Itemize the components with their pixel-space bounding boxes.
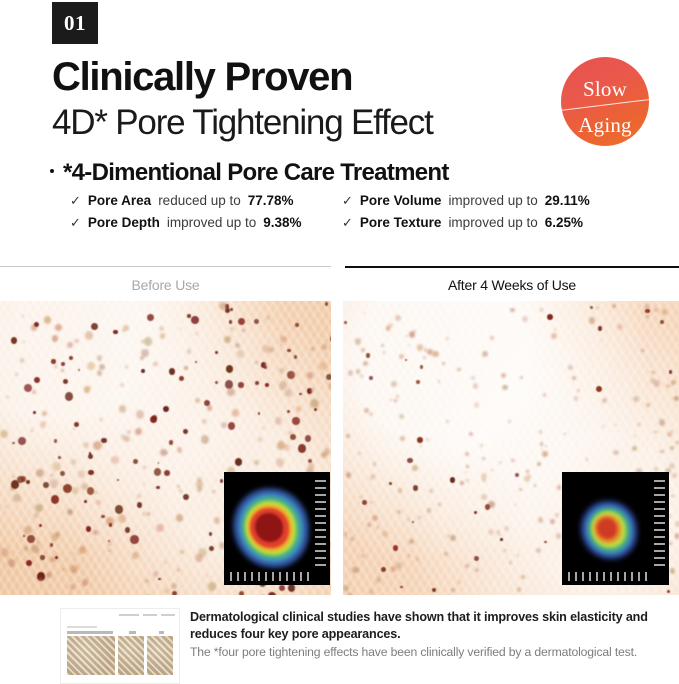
pore-spot — [34, 377, 40, 384]
pore-spot — [85, 331, 93, 339]
pore-spot — [348, 370, 354, 376]
pore-spot — [109, 523, 113, 527]
pore-spot — [670, 446, 674, 450]
pore-spot — [287, 410, 290, 413]
pore-spot — [137, 502, 143, 508]
pore-spot — [450, 535, 456, 541]
pore-spot — [667, 432, 672, 437]
pore-spot — [554, 328, 556, 330]
metric-label: Pore Depth — [88, 215, 160, 230]
pore-spot — [184, 366, 188, 370]
pore-spot — [364, 408, 369, 413]
pore-spot — [613, 450, 618, 455]
pore-spot — [572, 376, 575, 380]
pore-spot — [34, 575, 36, 577]
pore-spot — [143, 466, 146, 469]
pore-spot — [262, 427, 265, 430]
pore-spot — [438, 503, 441, 506]
pore-spot — [407, 458, 412, 464]
pore-spot — [284, 444, 290, 450]
pore-spot — [280, 343, 283, 347]
pore-spot — [409, 344, 411, 346]
pore-spot — [264, 363, 268, 367]
pore-spot — [39, 578, 43, 582]
pore-spot — [18, 437, 26, 445]
pore-spot — [159, 326, 164, 331]
pore-spot — [442, 362, 445, 365]
pore-spot — [228, 422, 236, 430]
pore-spot — [364, 312, 366, 314]
pore-spot — [294, 355, 298, 359]
pore-spot — [538, 517, 543, 523]
pore-spot — [556, 533, 562, 539]
pore-spot — [21, 476, 27, 482]
pore-spot — [491, 469, 493, 471]
pore-spot — [238, 318, 245, 325]
pore-spot — [235, 458, 242, 466]
pore-spot — [206, 575, 208, 577]
pore-spot — [383, 351, 386, 354]
pore-spot — [544, 541, 547, 544]
pore-spot — [602, 398, 607, 403]
pore-spot — [154, 468, 161, 476]
pore-spot — [382, 531, 388, 537]
seal-word-slow: Slow — [561, 79, 649, 100]
pore-spot — [172, 591, 177, 595]
pore-spot — [97, 370, 103, 376]
pore-spot — [590, 306, 593, 309]
pore-spot — [127, 430, 132, 435]
pore-spot — [432, 351, 438, 358]
pore-spot — [522, 316, 528, 323]
page-title: Clinically Proven — [52, 57, 352, 97]
pore-spot — [381, 344, 384, 347]
pore-spot — [156, 524, 164, 532]
section-number: 01 — [64, 11, 86, 36]
pore-spot — [133, 459, 138, 464]
pore-spot — [280, 336, 286, 343]
pore-spot — [230, 327, 234, 332]
pore-spot — [482, 351, 488, 357]
pore-spot — [432, 588, 436, 593]
pore-spot — [388, 323, 393, 328]
pore-spot — [93, 530, 98, 536]
pore-spot — [475, 568, 479, 572]
pore-spot — [413, 330, 415, 332]
pore-spot — [465, 564, 469, 568]
pore-spot — [654, 308, 658, 312]
pore-spot — [195, 398, 200, 403]
pore-spot — [458, 580, 461, 584]
pore-spot — [602, 425, 605, 428]
pore-spot — [123, 325, 129, 332]
pore-spot — [504, 549, 506, 551]
pore-spot — [254, 460, 259, 465]
pore-spot — [11, 480, 19, 489]
pore-depth-heatmap-after — [562, 472, 669, 585]
pore-spot — [369, 477, 373, 481]
metric-action: improved up to — [448, 215, 537, 230]
pore-spot — [308, 463, 313, 468]
pore-spot — [142, 512, 146, 516]
pore-spot — [153, 362, 157, 367]
pore-spot — [551, 333, 557, 339]
pore-spot — [360, 374, 364, 378]
pore-spot — [363, 361, 368, 366]
pore-spot — [207, 405, 212, 410]
pore-spot — [119, 405, 126, 413]
pore-spot — [344, 321, 346, 324]
pore-spot — [13, 494, 21, 503]
pore-spot — [62, 568, 65, 571]
pore-spot — [111, 456, 118, 464]
pore-spot — [488, 529, 494, 535]
pore-spot — [395, 315, 401, 321]
pore-spot — [220, 479, 223, 482]
before-divider-rule — [0, 266, 331, 267]
pore-spot — [147, 314, 154, 321]
pore-spot — [12, 442, 15, 445]
pore-spot — [418, 516, 421, 519]
pore-spot — [352, 567, 358, 574]
pore-spot — [144, 337, 152, 346]
pore-spot — [671, 495, 673, 498]
pore-spot — [409, 539, 414, 544]
pore-spot — [136, 410, 144, 419]
thumbnail-micrograph-row — [67, 636, 173, 675]
pore-spot — [242, 329, 245, 332]
pore-spot — [446, 337, 449, 340]
pore-spot — [191, 316, 198, 324]
pore-spot — [509, 561, 512, 564]
pore-spot — [450, 477, 455, 483]
heatmap-scale-ticks-horizontal — [568, 572, 651, 581]
pore-spot — [296, 406, 302, 412]
pore-spot — [389, 482, 391, 485]
check-icon: ✓ — [70, 216, 81, 229]
pore-spot — [31, 429, 34, 432]
pore-spot — [169, 440, 174, 445]
pore-spot — [15, 373, 17, 375]
pore-spot — [426, 438, 429, 441]
check-icon: ✓ — [342, 194, 353, 207]
pore-spot — [510, 308, 514, 313]
pore-spot — [255, 361, 258, 364]
pore-spot — [215, 351, 218, 354]
pore-spot — [70, 565, 77, 573]
pore-spot — [50, 474, 53, 477]
pore-spot — [325, 302, 329, 306]
pore-spot — [91, 323, 98, 330]
pore-spot — [101, 438, 106, 444]
pore-spot — [637, 423, 640, 426]
check-icon: ✓ — [342, 216, 353, 229]
pore-spot — [568, 365, 573, 370]
pore-spot — [84, 500, 87, 503]
after-label: After 4 Weeks of Use — [345, 277, 679, 293]
pore-spot — [156, 486, 159, 489]
pore-spot — [612, 304, 616, 308]
pore-spot — [24, 384, 32, 392]
pore-spot — [201, 435, 210, 444]
pore-spot — [654, 467, 658, 471]
pore-spot — [60, 471, 65, 476]
pore-spot — [537, 462, 542, 467]
pore-spot — [180, 328, 182, 330]
benefit-checklist: ✓ Pore Area reduced up to 77.78% ✓ Pore … — [70, 193, 650, 230]
pore-spot — [344, 532, 347, 536]
pore-spot — [598, 326, 602, 331]
pore-spot — [101, 515, 104, 519]
pore-spot — [480, 444, 483, 447]
pore-spot — [32, 390, 36, 394]
metric-value: 6.25% — [545, 215, 583, 230]
pore-spot — [45, 594, 49, 595]
pore-spot — [654, 431, 657, 434]
pore-spot — [287, 349, 290, 352]
pore-spot — [355, 338, 361, 344]
pore-spot — [69, 356, 73, 360]
pore-spot — [367, 523, 371, 528]
pore-depth-heatmap-before — [224, 472, 330, 585]
pore-spot — [517, 554, 519, 556]
pore-spot — [396, 395, 399, 398]
pore-spot — [396, 562, 402, 568]
pore-spot — [12, 475, 14, 477]
pore-spot — [669, 370, 672, 374]
pore-spot — [369, 589, 374, 594]
pore-spot — [361, 554, 364, 557]
pore-spot — [408, 554, 411, 557]
pore-spot — [381, 567, 386, 572]
pore-spot — [390, 399, 393, 402]
pore-spot — [358, 452, 361, 455]
pore-spot — [550, 519, 555, 524]
pore-spot — [410, 331, 416, 337]
pore-spot — [596, 307, 598, 309]
pore-spot — [466, 479, 469, 482]
pore-spot — [391, 566, 396, 571]
pore-spot — [279, 381, 287, 390]
pore-spot — [187, 349, 191, 354]
pore-spot — [276, 458, 284, 467]
pore-spot — [490, 336, 493, 339]
pore-spot — [113, 330, 117, 334]
pore-spot — [141, 369, 145, 373]
pore-spot — [202, 419, 207, 424]
pore-spot — [44, 316, 51, 324]
micrograph-cell — [147, 636, 173, 675]
pore-spot — [219, 302, 226, 310]
pore-spot — [328, 382, 331, 390]
pore-spot — [474, 556, 479, 561]
pore-spot — [540, 442, 544, 446]
pore-spot — [27, 535, 35, 543]
pore-spot — [326, 374, 331, 380]
pore-spot — [164, 588, 169, 594]
pore-spot — [164, 561, 167, 564]
pore-spot — [508, 420, 511, 423]
pore-spot — [545, 445, 547, 447]
pore-spot — [372, 515, 378, 521]
pore-spot — [400, 436, 404, 441]
pore-spot — [293, 373, 295, 375]
pore-spot — [187, 314, 190, 317]
pore-spot — [536, 548, 541, 553]
pore-spot — [466, 465, 469, 468]
pore-spot — [666, 384, 670, 389]
pore-spot — [0, 548, 8, 557]
pore-spot — [671, 380, 676, 385]
pore-spot — [238, 382, 243, 387]
pore-spot — [295, 323, 298, 326]
pore-spot — [58, 456, 61, 459]
pore-spot — [158, 462, 160, 464]
pore-spot — [209, 532, 213, 536]
pore-spot — [176, 514, 184, 522]
pore-spot — [183, 429, 188, 434]
pore-spot — [61, 362, 65, 366]
pore-spot — [400, 586, 403, 589]
footer-title: Dermatological clinical studies have sho… — [190, 609, 650, 642]
thumbnail-header-lines — [67, 614, 173, 624]
pore-spot — [314, 408, 317, 411]
pore-spot — [369, 376, 373, 380]
pore-spot — [224, 336, 231, 343]
metric-action: reduced up to — [158, 193, 241, 208]
pore-spot — [644, 304, 650, 310]
pore-spot — [208, 582, 216, 591]
pore-spot — [197, 486, 203, 492]
pore-spot — [311, 347, 314, 350]
pore-spot — [67, 342, 73, 348]
pore-spot — [451, 588, 455, 592]
pore-spot — [179, 376, 184, 381]
pore-spot — [416, 380, 420, 384]
pore-spot — [26, 560, 32, 566]
pore-spot — [596, 386, 602, 392]
pore-spot — [73, 553, 75, 555]
pore-spot — [373, 462, 376, 466]
pore-spot — [163, 406, 169, 412]
pore-spot — [362, 500, 367, 505]
pore-spot — [319, 362, 326, 369]
micrograph-cell — [67, 636, 115, 675]
checklist-item-pore-depth: ✓ Pore Depth improved up to 9.38% — [70, 215, 342, 230]
pore-spot — [662, 309, 667, 314]
pore-spot — [204, 400, 210, 406]
pore-spot — [577, 389, 579, 391]
pore-spot — [78, 369, 80, 371]
pore-spot — [82, 579, 88, 586]
pore-spot — [288, 584, 296, 592]
bullet-dot-icon — [50, 169, 54, 173]
pore-spot — [423, 356, 426, 359]
pore-spot — [366, 353, 370, 358]
pore-spot — [465, 471, 467, 473]
pore-spot — [420, 445, 422, 447]
pore-spot — [88, 470, 93, 476]
pore-spot — [120, 383, 124, 387]
pore-spot — [417, 344, 423, 350]
pore-spot — [420, 365, 423, 369]
pore-spot — [292, 417, 299, 424]
pore-spot — [275, 417, 282, 424]
pore-spot — [86, 526, 91, 531]
pore-spot — [67, 509, 73, 515]
pore-spot — [675, 521, 679, 527]
pore-spot — [183, 494, 189, 500]
pore-spot — [391, 381, 397, 387]
pore-spot — [56, 553, 58, 555]
pore-spot — [307, 372, 313, 378]
after-divider-rule — [345, 266, 679, 268]
pore-spot — [542, 451, 548, 458]
pore-spot — [394, 399, 397, 402]
metric-action: improved up to — [167, 215, 256, 230]
section-number-badge: 01 — [52, 2, 98, 44]
metric-value: 29.11% — [545, 193, 590, 208]
pore-spot — [474, 402, 480, 408]
pore-spot — [229, 320, 233, 324]
pore-spot — [40, 555, 44, 560]
metric-label: Pore Texture — [360, 215, 442, 230]
pore-spot — [675, 533, 679, 538]
pore-spot — [125, 365, 128, 368]
pore-spot — [94, 491, 97, 494]
pore-spot — [646, 403, 650, 407]
pore-spot — [36, 469, 44, 477]
pore-spot — [34, 322, 39, 327]
pore-spot — [212, 490, 215, 493]
pore-spot — [519, 488, 523, 492]
pore-spot — [215, 381, 218, 384]
pore-spot — [22, 315, 24, 317]
page-subtitle: 4D* Pore Tightening Effect — [52, 105, 433, 140]
pore-spot — [511, 459, 514, 462]
pore-spot — [377, 526, 379, 529]
pore-spot — [324, 448, 331, 455]
pore-spot — [308, 459, 312, 463]
seal-word-aging: Aging — [561, 115, 649, 136]
pore-spot — [520, 376, 522, 378]
pore-spot — [195, 332, 197, 335]
pore-spot — [370, 501, 372, 504]
pore-spot — [0, 430, 8, 438]
pore-spot — [78, 470, 85, 478]
pore-spot — [39, 524, 42, 527]
pore-spot — [446, 420, 449, 423]
pore-spot — [124, 436, 130, 442]
pore-spot — [438, 380, 441, 383]
pore-spot — [73, 428, 75, 430]
pore-spot — [79, 546, 86, 554]
pore-spot — [258, 412, 261, 415]
treatment-headline: *4-Dimentional Pore Care Treatment — [50, 159, 449, 187]
metric-value: 9.38% — [263, 215, 301, 230]
pore-spot — [669, 542, 672, 545]
pore-spot — [399, 354, 404, 360]
pore-spot — [226, 365, 233, 373]
pore-spot — [40, 421, 47, 428]
pore-spot — [5, 506, 7, 508]
pore-spot — [482, 457, 485, 460]
pore-spot — [457, 368, 460, 372]
pore-spot — [118, 514, 126, 522]
pore-spot — [398, 488, 403, 493]
before-label: Before Use — [0, 277, 331, 293]
pore-spot — [266, 316, 269, 320]
